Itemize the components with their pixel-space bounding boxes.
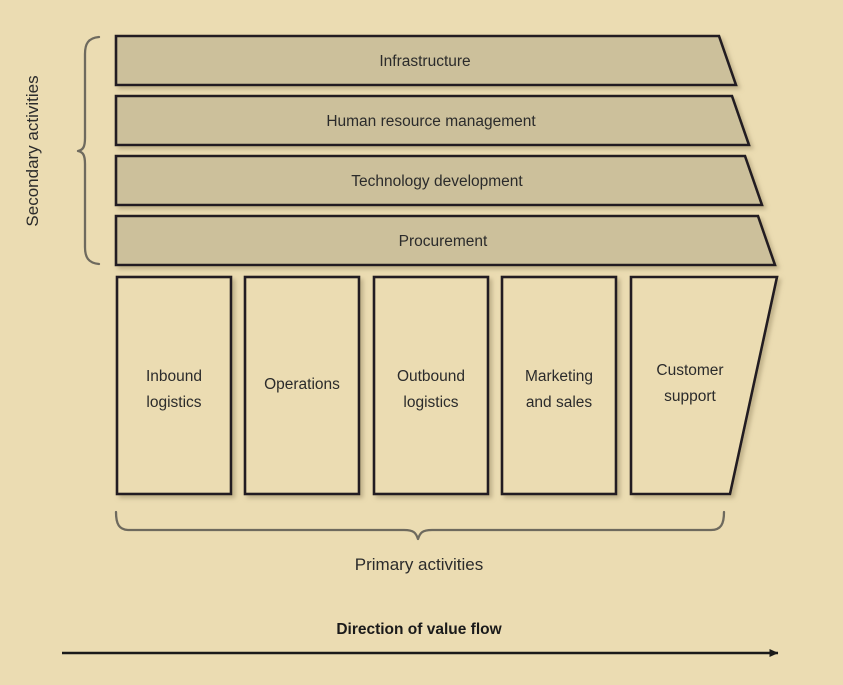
primary-box-customer-support[interactable]: Customer support	[631, 277, 777, 494]
secondary-bar-procurement[interactable]: Procurement	[116, 216, 775, 265]
primary-box-label-line1: Customer	[656, 362, 723, 379]
box-shape	[631, 277, 777, 494]
primary-box-label-line1: Marketing	[525, 368, 593, 385]
primary-activities-label-group: Primary activities	[355, 555, 483, 574]
secondary-bar-label: Procurement	[399, 233, 488, 250]
diagram-canvas: Infrastructure Human resource management…	[0, 0, 843, 685]
box-shape	[502, 277, 616, 494]
primary-box-label-line1: Inbound	[146, 368, 202, 385]
primary-box-inbound-logistics[interactable]: Inbound logistics	[117, 277, 231, 494]
secondary-bar-label: Technology development	[351, 173, 523, 190]
primary-activities-label: Primary activities	[355, 555, 483, 574]
value-chain-diagram: Infrastructure Human resource management…	[0, 0, 843, 685]
primary-activities-group: Inbound logistics Operations Outbound lo…	[117, 277, 777, 494]
secondary-bar-human-resource-management[interactable]: Human resource management	[116, 96, 749, 145]
secondary-bar-label: Infrastructure	[379, 53, 470, 70]
secondary-activities-group: Infrastructure Human resource management…	[116, 36, 775, 265]
primary-box-outbound-logistics[interactable]: Outbound logistics	[374, 277, 488, 494]
secondary-bar-technology-development[interactable]: Technology development	[116, 156, 762, 205]
box-shape	[117, 277, 231, 494]
primary-box-label-line1: Outbound	[397, 368, 465, 385]
primary-box-label-line1: Operations	[264, 376, 340, 393]
primary-box-label-line2: logistics	[403, 394, 458, 411]
secondary-activities-label-group: Secondary activities	[23, 75, 42, 226]
value-flow-label: Direction of value flow	[336, 621, 502, 638]
primary-box-marketing-and-sales[interactable]: Marketing and sales	[502, 277, 616, 494]
primary-box-label-line2: support	[664, 388, 716, 405]
primary-box-operations[interactable]: Operations	[245, 277, 359, 494]
secondary-activities-label: Secondary activities	[23, 75, 42, 226]
secondary-bar-infrastructure[interactable]: Infrastructure	[116, 36, 736, 85]
box-shape	[374, 277, 488, 494]
secondary-activities-brace	[78, 37, 99, 264]
primary-box-label-line2: and sales	[526, 394, 593, 411]
brace-path	[78, 37, 99, 264]
primary-activities-brace	[116, 512, 724, 539]
secondary-bar-label: Human resource management	[326, 113, 536, 130]
value-flow-group: Direction of value flow	[62, 621, 778, 653]
brace-path	[116, 512, 724, 539]
primary-box-label-line2: logistics	[146, 394, 201, 411]
